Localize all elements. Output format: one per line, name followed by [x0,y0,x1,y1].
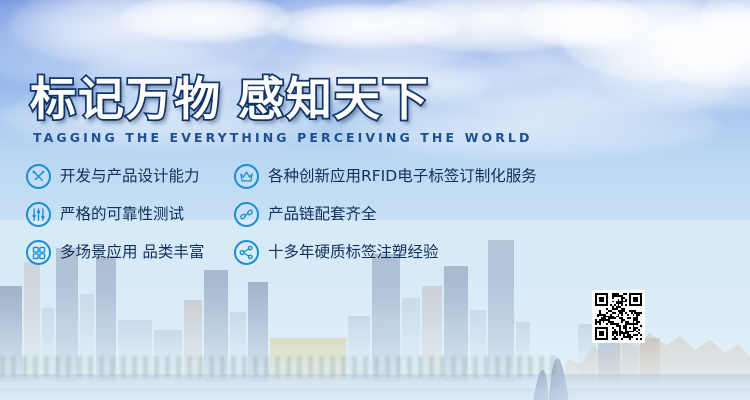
feature-row: 开发与产品设计能力 各种创新应用RFID电子标签订制化服务 [26,164,726,189]
sliders-icon [26,202,51,227]
crown-icon [234,164,259,189]
feature-item: 开发与产品设计能力 [26,164,234,189]
qr-code[interactable] [592,290,645,343]
feature-item: 多场景应用 品类丰富 [26,240,234,265]
feature-label: 开发与产品设计能力 [60,169,200,185]
headline-part-2: 感知天下 [238,73,430,125]
feature-item: 产品链配套齐全 [234,202,377,227]
headline-part-1: 标记万物 [30,73,222,125]
feature-item: 各种创新应用RFID电子标签订制化服务 [234,164,537,189]
feature-label: 十多年硬质标签注塑经验 [268,245,439,261]
link-icon [234,202,259,227]
feature-row: 多场景应用 品类丰富 十多年硬 [26,240,726,265]
grid-icon [26,240,51,265]
feature-label: 严格的可靠性测试 [60,207,184,223]
share-icon [234,240,259,265]
feature-label: 多场景应用 品类丰富 [60,245,204,261]
feature-list: 开发与产品设计能力 各种创新应用RFID电子标签订制化服务 [26,164,726,278]
page-title: 标记万物感知天下 [30,76,430,122]
feature-label: 产品链配套齐全 [268,207,377,223]
qr-code-modules [595,293,642,340]
feature-label: 各种创新应用RFID电子标签订制化服务 [268,169,537,185]
feature-item: 十多年硬质标签注塑经验 [234,240,439,265]
tools-icon [26,164,51,189]
promotional-banner: 标记万物感知天下 TAGGING THE EVERYTHING PERCEIVI… [0,0,750,400]
feature-row: 严格的可靠性测试 产品链配套齐全 [26,202,726,227]
subtitle: TAGGING THE EVERYTHING PERCEIVING THE WO… [33,130,532,145]
feature-item: 严格的可靠性测试 [26,202,234,227]
